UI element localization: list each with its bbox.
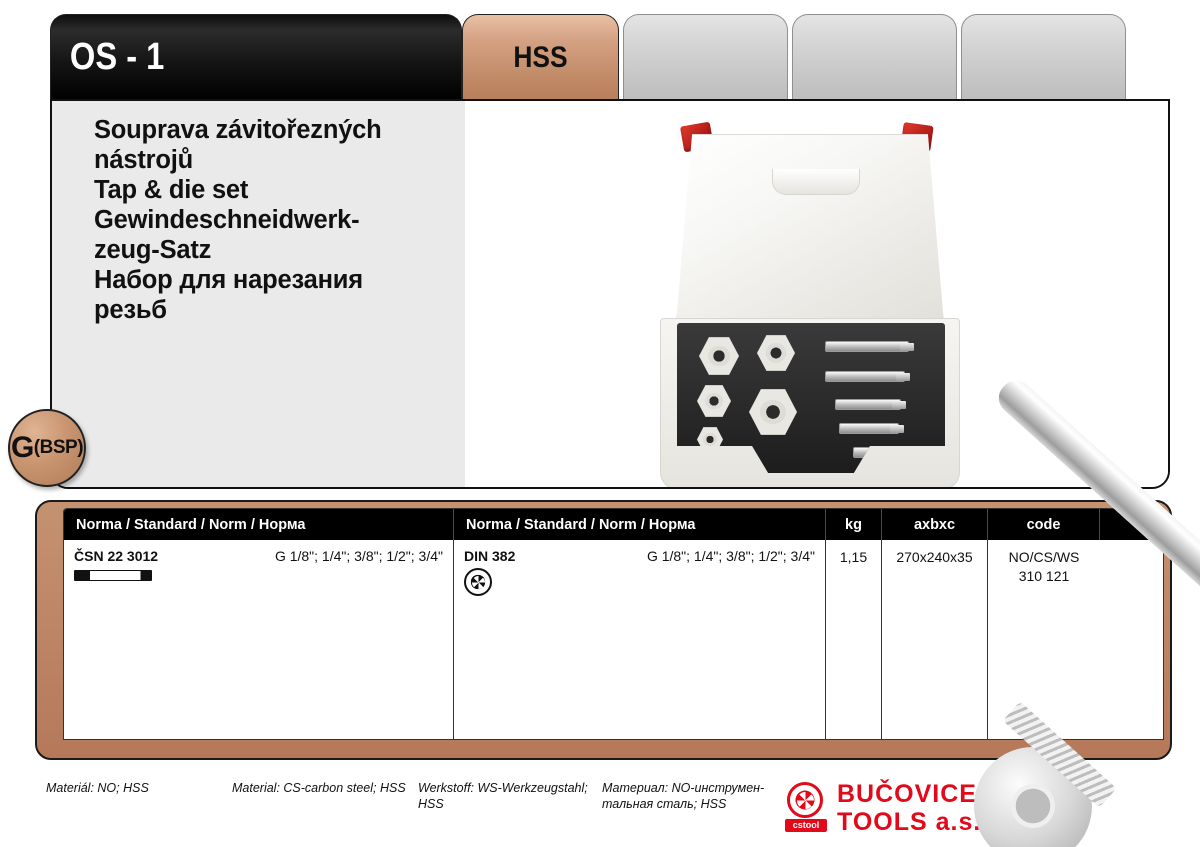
cell-code: NO/CS/WS 310 121 xyxy=(988,540,1100,739)
bucovice-die-icon xyxy=(787,782,823,818)
cell-weight: 1,15 xyxy=(826,540,882,739)
tab-strip: OS - 1 HSS xyxy=(50,14,1170,100)
thread-standard-badge: G (BSP) xyxy=(8,409,86,487)
col-header-standard-2: Norma / Standard / Norm / Норма xyxy=(454,509,826,540)
tap-icon xyxy=(74,570,152,581)
company-logo: cstool BUČOVICE TOOLS a.s. xyxy=(787,780,1027,836)
product-title-block: Souprava závitořezných nástrojů Tap & di… xyxy=(52,101,465,325)
cell-standard-1: ČSN 22 3012 G 1/8"; 1/4"; 3/8"; 1/2"; 3/… xyxy=(64,540,454,739)
tab-hss-label: HSS xyxy=(472,41,608,75)
spec-table-frame: Norma / Standard / Norm / Норма Norma / … xyxy=(35,500,1172,760)
cell-dimensions: 270x240x35 xyxy=(882,540,988,739)
company-name: BUČOVICE TOOLS a.s. xyxy=(837,780,981,836)
product-title-de-1: Gewindeschneidwerk- xyxy=(94,205,447,235)
product-photo-panel xyxy=(465,101,1168,487)
spec-table-body: ČSN 22 3012 G 1/8"; 1/4"; 3/8"; 1/2"; 3/… xyxy=(64,540,1163,739)
col-header-code: code xyxy=(988,509,1100,540)
product-photo xyxy=(650,106,970,486)
code-line-2: 310 121 xyxy=(998,567,1090,586)
case-lid xyxy=(676,134,944,324)
die-3 xyxy=(697,385,731,417)
tab-empty-3[interactable] xyxy=(961,14,1126,100)
material-note-ru: Материал: NO-инструмен- тальная сталь; H… xyxy=(602,780,782,812)
tab-hss[interactable]: HSS xyxy=(462,14,619,100)
dimensions-value: 270x240x35 xyxy=(892,548,977,567)
material-note-en: Material: CS-carbon steel; HSS xyxy=(232,780,412,796)
tab-empty-1[interactable] xyxy=(623,14,788,100)
case-base xyxy=(660,318,960,489)
code-line-1: NO/CS/WS xyxy=(998,548,1090,567)
standard-1-sizes: G 1/8"; 1/4"; 3/8"; 1/2"; 3/4" xyxy=(158,548,443,564)
die-4 xyxy=(749,389,797,435)
tab-os-1[interactable]: OS - 1 xyxy=(50,14,462,100)
product-text-panel: Souprava závitořezných nástrojů Tap & di… xyxy=(52,101,465,487)
die-1 xyxy=(699,337,739,375)
cell-standard-2: DIN 382 G 1/8"; 1/4"; 3/8"; 1/2"; 3/4" xyxy=(454,540,826,739)
die-icon xyxy=(464,568,492,596)
standard-1-name: ČSN 22 3012 xyxy=(74,548,158,564)
cstool-badge: cstool xyxy=(785,819,827,832)
spec-table-header: Norma / Standard / Norm / Норма Norma / … xyxy=(64,509,1163,540)
badge-sub: (BSP) xyxy=(34,437,83,459)
tab-os-1-label: OS - 1 xyxy=(51,36,164,79)
product-title-cs-1: Souprava závitořezných xyxy=(94,115,447,145)
product-title-de-2: zeug-Satz xyxy=(94,235,447,265)
product-title-cs-2: nástrojů xyxy=(94,145,447,175)
product-panel: Souprava závitořezných nástrojů Tap & di… xyxy=(50,99,1170,489)
product-title-ru-2: резьб xyxy=(94,295,447,325)
material-note-cs: Materiál: NO; HSS xyxy=(46,780,236,796)
company-name-line-2: TOOLS a.s. xyxy=(837,808,981,836)
product-title-en: Tap & die set xyxy=(94,175,447,205)
badge-letter: G xyxy=(11,431,34,465)
standard-2-sizes: G 1/8"; 1/4"; 3/8"; 1/2"; 3/4" xyxy=(515,548,815,564)
die-2 xyxy=(757,335,795,371)
tap-3 xyxy=(835,399,901,410)
standard-2-name: DIN 382 xyxy=(464,548,515,564)
company-name-line-1: BUČOVICE xyxy=(837,780,981,808)
spec-table: Norma / Standard / Norm / Норма Norma / … xyxy=(63,508,1164,740)
tab-empty-2[interactable] xyxy=(792,14,957,100)
material-note-de: Werkstoff: WS-Werkzeugstahl; HSS xyxy=(418,780,598,812)
col-header-axbxc: axbxc xyxy=(882,509,988,540)
die-5 xyxy=(697,427,723,452)
case-handle xyxy=(772,169,860,195)
col-header-standard-1: Norma / Standard / Norm / Норма xyxy=(64,509,454,540)
tap-2 xyxy=(825,371,905,382)
weight-value: 1,15 xyxy=(836,548,871,567)
tap-5 xyxy=(853,447,901,458)
foam-insert xyxy=(677,323,945,473)
tap-4 xyxy=(839,423,899,434)
catalog-page: OS - 1 HSS Souprava závitořezných nástro… xyxy=(0,0,1200,847)
product-title-ru-1: Набор для нарезания xyxy=(94,265,447,295)
tap-1 xyxy=(825,341,909,352)
col-header-kg: kg xyxy=(826,509,882,540)
